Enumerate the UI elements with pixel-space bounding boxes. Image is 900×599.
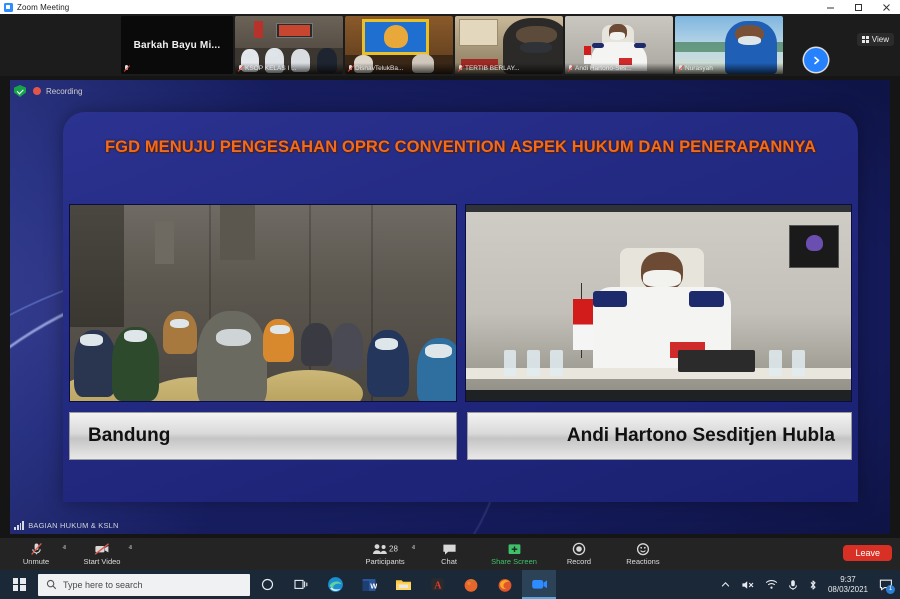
thumbnail-name: Andi Hartono-Ses...	[575, 65, 632, 72]
svg-text:W: W	[370, 581, 377, 590]
leave-button[interactable]: Leave	[843, 545, 892, 561]
thumbnail-name-row: Andi Hartono-Ses...	[565, 63, 673, 74]
microphone-icon	[788, 579, 798, 591]
video-panel-bandung[interactable]	[69, 204, 457, 402]
thumbnail-name-row: TERTIB BERLAY...	[455, 63, 563, 74]
unmute-label: Unmute	[23, 557, 49, 566]
participants-button[interactable]: 28 Participants ⱏ	[359, 538, 411, 570]
toolbar-center-group: 28 Participants ⱏ Chat Share S	[359, 538, 669, 570]
microphone-button[interactable]	[788, 579, 798, 591]
shared-screen-content: FGD MENUJU PENGESAHAN OPRC CONVENTION AS…	[10, 80, 890, 534]
taskbar-app-orange[interactable]	[454, 570, 488, 599]
video-panel-andi-hartono[interactable]	[465, 204, 853, 402]
muted-mic-icon	[123, 65, 129, 73]
volume-button[interactable]	[741, 579, 755, 591]
reactions-label: Reactions	[626, 557, 659, 566]
search-placeholder: Type here to search	[63, 580, 143, 590]
thumbnail-name-row: DisnavTelukBa...	[345, 63, 453, 74]
label-bandung: Bandung	[69, 412, 457, 460]
taskbar-app-firefox[interactable]	[488, 570, 522, 599]
taskbar-app-zoom[interactable]	[522, 570, 556, 599]
search-input[interactable]: Type here to search	[38, 574, 250, 596]
close-button[interactable]	[872, 0, 900, 14]
recording-indicator[interactable]: Recording	[33, 87, 82, 96]
next-page-button[interactable]	[804, 48, 828, 72]
microsoft-word-icon: W	[361, 577, 377, 593]
search-icon	[46, 579, 57, 590]
taskbar-app-edge[interactable]	[318, 570, 352, 599]
thumbnail-name: Nurasyah	[685, 65, 713, 72]
muted-mic-icon	[677, 65, 683, 73]
presentation-title: FGD MENUJU PENGESAHAN OPRC CONVENTION AS…	[63, 138, 858, 157]
shield-check-icon[interactable]	[14, 85, 26, 97]
presentation-video-row	[67, 204, 854, 402]
share-screen-label: Share Screen	[491, 557, 537, 566]
clock-time: 9:37	[828, 575, 868, 584]
system-tray: 9:37 08/03/2021 1	[720, 570, 900, 599]
thumbnail-name-row: KSOP KELAS I ...	[235, 63, 343, 74]
thumbnail-barkah-bayu[interactable]: Barkah Bayu Mi...	[121, 16, 233, 74]
video-options-caret[interactable]: ⱏ	[129, 545, 132, 553]
thumbnail-name: DisnavTelukBa...	[355, 65, 403, 72]
picture-in-picture	[789, 225, 839, 268]
thumbnail-andi-hartono[interactable]: Andi Hartono-Ses...	[565, 16, 673, 74]
video-scene	[466, 205, 852, 401]
signal-bars-icon	[14, 522, 24, 530]
bluetooth-icon	[808, 579, 818, 591]
start-video-button[interactable]: Start Video ⱏ	[76, 538, 128, 570]
start-video-label: Start Video	[84, 557, 121, 566]
zoom-app-icon	[531, 577, 548, 592]
toolbar-left-group: Unmute ⱏ Start Video ⱏ	[10, 538, 128, 570]
maximize-button[interactable]	[844, 0, 872, 14]
taskbar-app-acrobat[interactable]: A	[420, 570, 454, 599]
chevron-right-icon	[811, 55, 822, 66]
people-icon: 28	[372, 542, 398, 556]
zoom-toolbar: Unmute ⱏ Start Video ⱏ	[0, 538, 900, 570]
clock-date: 08/03/2021	[828, 585, 868, 594]
clock[interactable]: 9:37 08/03/2021	[828, 575, 868, 593]
windows-taskbar: Type here to search W	[0, 570, 900, 599]
muted-mic-icon	[237, 65, 243, 73]
reactions-button[interactable]: Reactions	[617, 538, 669, 570]
view-button[interactable]: View	[857, 33, 894, 46]
label-andi-hartono: Andi Hartono Sesditjen Hubla	[467, 412, 853, 460]
presentation-card: FGD MENUJU PENGESAHAN OPRC CONVENTION AS…	[63, 112, 858, 502]
chat-button[interactable]: Chat	[423, 538, 475, 570]
thumbnail-name: KSOP KELAS I ...	[245, 65, 297, 72]
cortana-circle-icon	[261, 578, 274, 591]
adobe-acrobat-icon: A	[430, 577, 445, 592]
thumbnail-name: Barkah Bayu Mi...	[134, 40, 221, 51]
record-dot-icon	[33, 87, 41, 95]
task-view-button[interactable]	[284, 570, 318, 599]
orange-app-icon	[463, 577, 479, 593]
audio-options-caret[interactable]: ⱏ	[63, 545, 66, 553]
muted-mic-icon	[347, 65, 353, 73]
bluetooth-button[interactable]	[808, 579, 818, 591]
chat-bubble-icon	[442, 542, 457, 556]
windows-logo-icon	[13, 578, 26, 591]
speaker-muted-icon	[741, 579, 755, 591]
thumbnail-nurasyah[interactable]: Nurasyah	[675, 16, 783, 74]
grid-icon	[862, 36, 869, 43]
view-button-label: View	[872, 35, 889, 44]
thumbnail-ksop-kelas[interactable]: KSOP KELAS I ...	[235, 16, 343, 74]
record-circle-icon	[572, 542, 586, 556]
screen-sharer-indicator: BAGIAN HUKUM & KSLN	[14, 521, 119, 530]
meeting-status-row: Recording	[14, 85, 82, 97]
share-screen-button[interactable]: Share Screen	[487, 538, 541, 570]
zoom-camera-icon	[4, 3, 13, 12]
record-button[interactable]: Record	[553, 538, 605, 570]
start-button[interactable]	[0, 570, 38, 599]
thumbnail-tertib-berlayar[interactable]: TERTIB BERLAY...	[455, 16, 563, 74]
svg-text:28: 28	[389, 544, 398, 553]
thumbnail-name-row: Nurasyah	[675, 63, 783, 74]
video-off-icon	[94, 542, 110, 556]
sharer-label: BAGIAN HUKUM & KSLN	[28, 521, 119, 530]
recording-label: Recording	[46, 87, 82, 96]
participants-label: Participants	[365, 557, 404, 566]
meeting-stage: FGD MENUJU PENGESAHAN OPRC CONVENTION AS…	[0, 76, 900, 538]
window-title: Zoom Meeting	[17, 3, 69, 12]
minimize-button[interactable]	[816, 0, 844, 14]
presentation-label-row: Bandung Andi Hartono Sesditjen Hubla	[67, 412, 854, 460]
window-controls	[816, 0, 900, 14]
cortana-button[interactable]	[250, 570, 284, 599]
chat-label: Chat	[441, 557, 457, 566]
video-scene	[70, 205, 456, 401]
window-title-bar: Zoom Meeting	[0, 0, 900, 14]
file-explorer-icon	[395, 577, 412, 592]
taskbar-app-word[interactable]: W	[352, 570, 386, 599]
notification-count: 1	[886, 585, 895, 594]
wifi-icon	[765, 579, 778, 590]
action-center-button[interactable]: 1	[878, 577, 894, 593]
microsoft-edge-icon	[327, 576, 344, 593]
svg-text:A: A	[434, 581, 442, 592]
task-view-icon	[294, 578, 309, 591]
network-button[interactable]	[765, 579, 778, 590]
mic-muted-icon	[30, 542, 43, 556]
participant-thumbnail-strip: Barkah Bayu Mi... KSOP KELAS I ...	[0, 14, 900, 76]
muted-mic-icon	[457, 65, 463, 73]
unmute-button[interactable]: Unmute ⱏ	[10, 538, 62, 570]
taskbar-app-file-explorer[interactable]	[386, 570, 420, 599]
participants-options-caret[interactable]: ⱏ	[412, 545, 415, 553]
thumbnail-name: TERTIB BERLAY...	[465, 65, 520, 72]
reactions-smiley-icon	[636, 542, 650, 556]
thumbnail-disnav-teluk[interactable]: DisnavTelukBa...	[345, 16, 453, 74]
muted-mic-icon	[567, 65, 573, 73]
chevron-up-icon	[720, 579, 731, 590]
share-screen-icon	[507, 542, 522, 556]
mozilla-firefox-icon	[497, 577, 513, 593]
tray-overflow-button[interactable]	[720, 579, 731, 590]
record-label: Record	[567, 557, 591, 566]
